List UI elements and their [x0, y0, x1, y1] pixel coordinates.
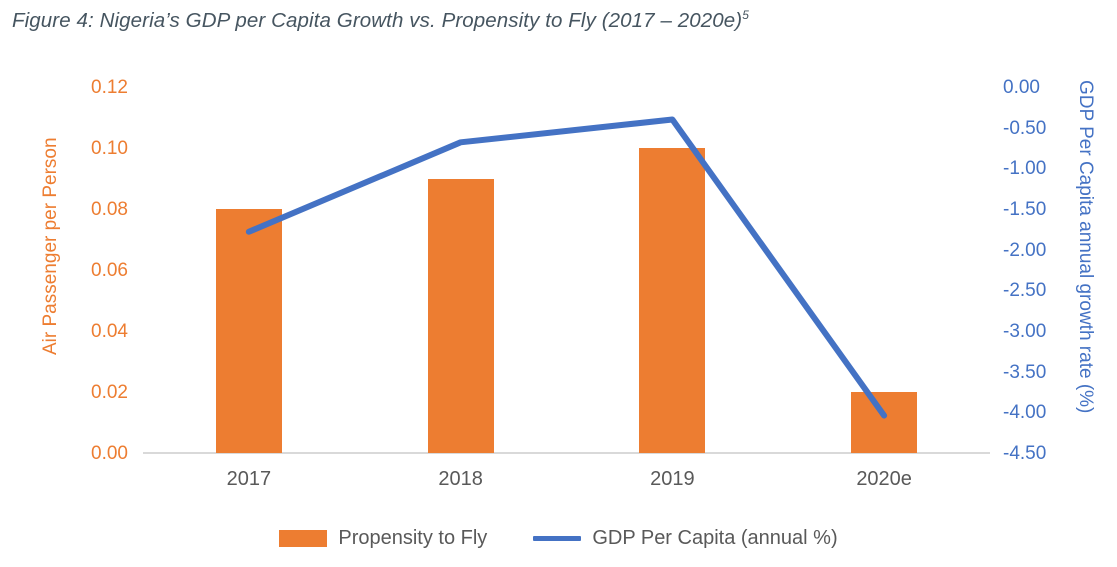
right-axis-tick-label: -1.00 [1003, 159, 1046, 178]
legend-line-swatch-icon [533, 536, 581, 541]
chart-canvas: Air Passenger per Person GDP Per Capita … [0, 0, 1117, 567]
right-axis-tick-label: -4.50 [1003, 444, 1046, 463]
left-axis-tick-label: 0.12 [91, 78, 128, 97]
left-axis-tick-label: 0.08 [91, 200, 128, 219]
right-axis-tick-label: -0.50 [1003, 119, 1046, 138]
legend-label-gdp-per-capita: GDP Per Capita (annual %) [592, 527, 837, 550]
left-axis-tick-label: 0.06 [91, 261, 128, 280]
left-axis-tick-label: 0.02 [91, 383, 128, 402]
right-axis-tick-label: -3.50 [1003, 363, 1046, 382]
x-axis-tick-label: 2020e [856, 468, 912, 491]
right-axis-tick-label: -2.50 [1003, 281, 1046, 300]
x-axis-tick-label: 2019 [650, 468, 695, 491]
chart-legend: Propensity to Fly GDP Per Capita (annual… [0, 518, 1117, 558]
gdp-line-path [249, 120, 884, 416]
legend-label-propensity-to-fly: Propensity to Fly [338, 527, 487, 550]
right-axis-tick-label: -2.00 [1003, 241, 1046, 260]
x-axis-tick-label: 2017 [227, 468, 272, 491]
right-axis-ticks: 0.00-0.50-1.00-1.50-2.00-2.50-3.00-3.50-… [1003, 0, 1083, 567]
left-axis-tick-label: 0.10 [91, 139, 128, 158]
plot-area [143, 87, 990, 453]
line-series-gdp-per-capita [143, 87, 990, 453]
left-axis-tick-label: 0.04 [91, 322, 128, 341]
legend-bar-swatch-icon [279, 530, 327, 547]
right-axis-tick-label: 0.00 [1003, 78, 1040, 97]
x-axis-category-labels: 2017201820192020e [143, 468, 990, 498]
right-axis-tick-label: -4.00 [1003, 403, 1046, 422]
right-axis-tick-label: -1.50 [1003, 200, 1046, 219]
left-axis-tick-label: 0.00 [91, 444, 128, 463]
legend-item-gdp-per-capita[interactable]: GDP Per Capita (annual %) [533, 527, 837, 550]
x-axis-tick-label: 2018 [438, 468, 483, 491]
left-axis-ticks: 0.000.020.040.060.080.100.12 [55, 0, 128, 567]
right-axis-tick-label: -3.00 [1003, 322, 1046, 341]
legend-item-propensity-to-fly[interactable]: Propensity to Fly [279, 527, 487, 550]
